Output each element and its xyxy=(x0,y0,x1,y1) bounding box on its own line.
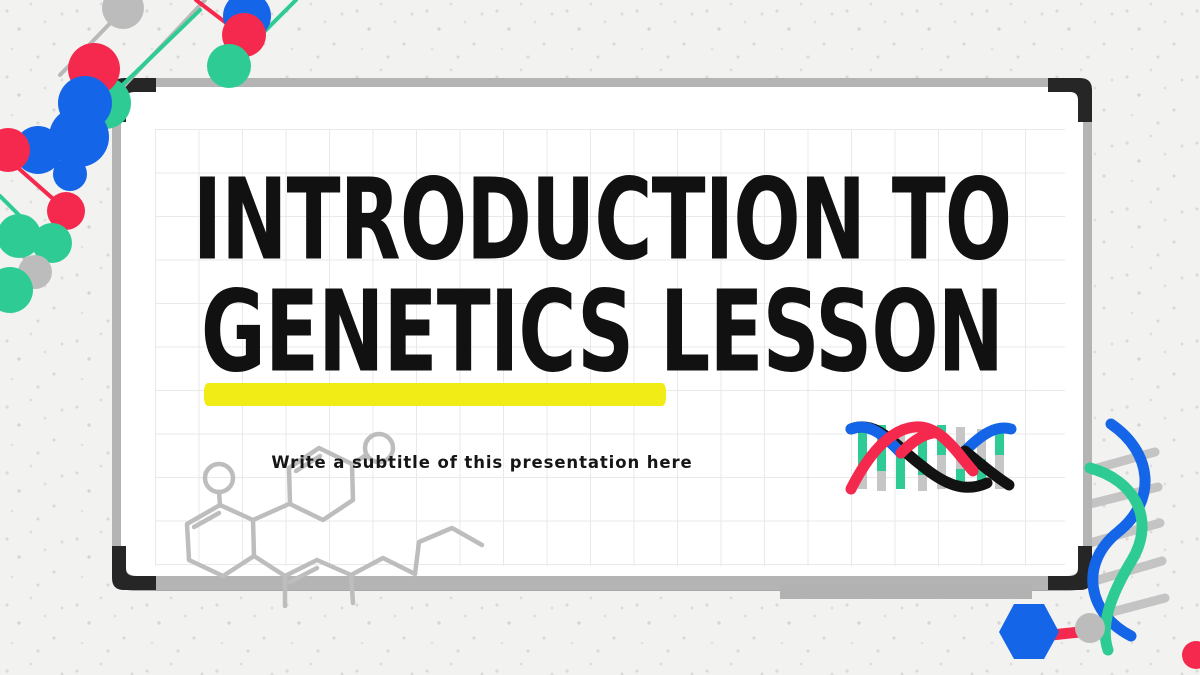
board-corner-clip-icon-bottom-right xyxy=(1048,546,1092,590)
title-line-2: GENETICS LESSON xyxy=(181,278,1024,388)
marker-tray-icon xyxy=(780,585,1032,599)
board-corner-clip-icon-bottom-left xyxy=(112,546,156,590)
title-slide: INTRODUCTION TO GENETICS LESSON Write a … xyxy=(0,0,1200,675)
whiteboard: INTRODUCTION TO GENETICS LESSON Write a … xyxy=(112,78,1092,590)
board-corner-clip-icon-top-right xyxy=(1048,78,1092,122)
page-title: INTRODUCTION TO GENETICS LESSON xyxy=(112,166,1092,368)
title-line-1: INTRODUCTION TO xyxy=(181,166,1024,276)
dna-helix-icon xyxy=(837,413,1023,505)
board-corner-clip-icon-top-left xyxy=(112,78,156,122)
slide-content: INTRODUCTION TO GENETICS LESSON Write a … xyxy=(112,78,1092,590)
subtitle-text: Write a subtitle of this presentation he… xyxy=(112,453,852,472)
molecule-structure-icon xyxy=(157,398,487,608)
